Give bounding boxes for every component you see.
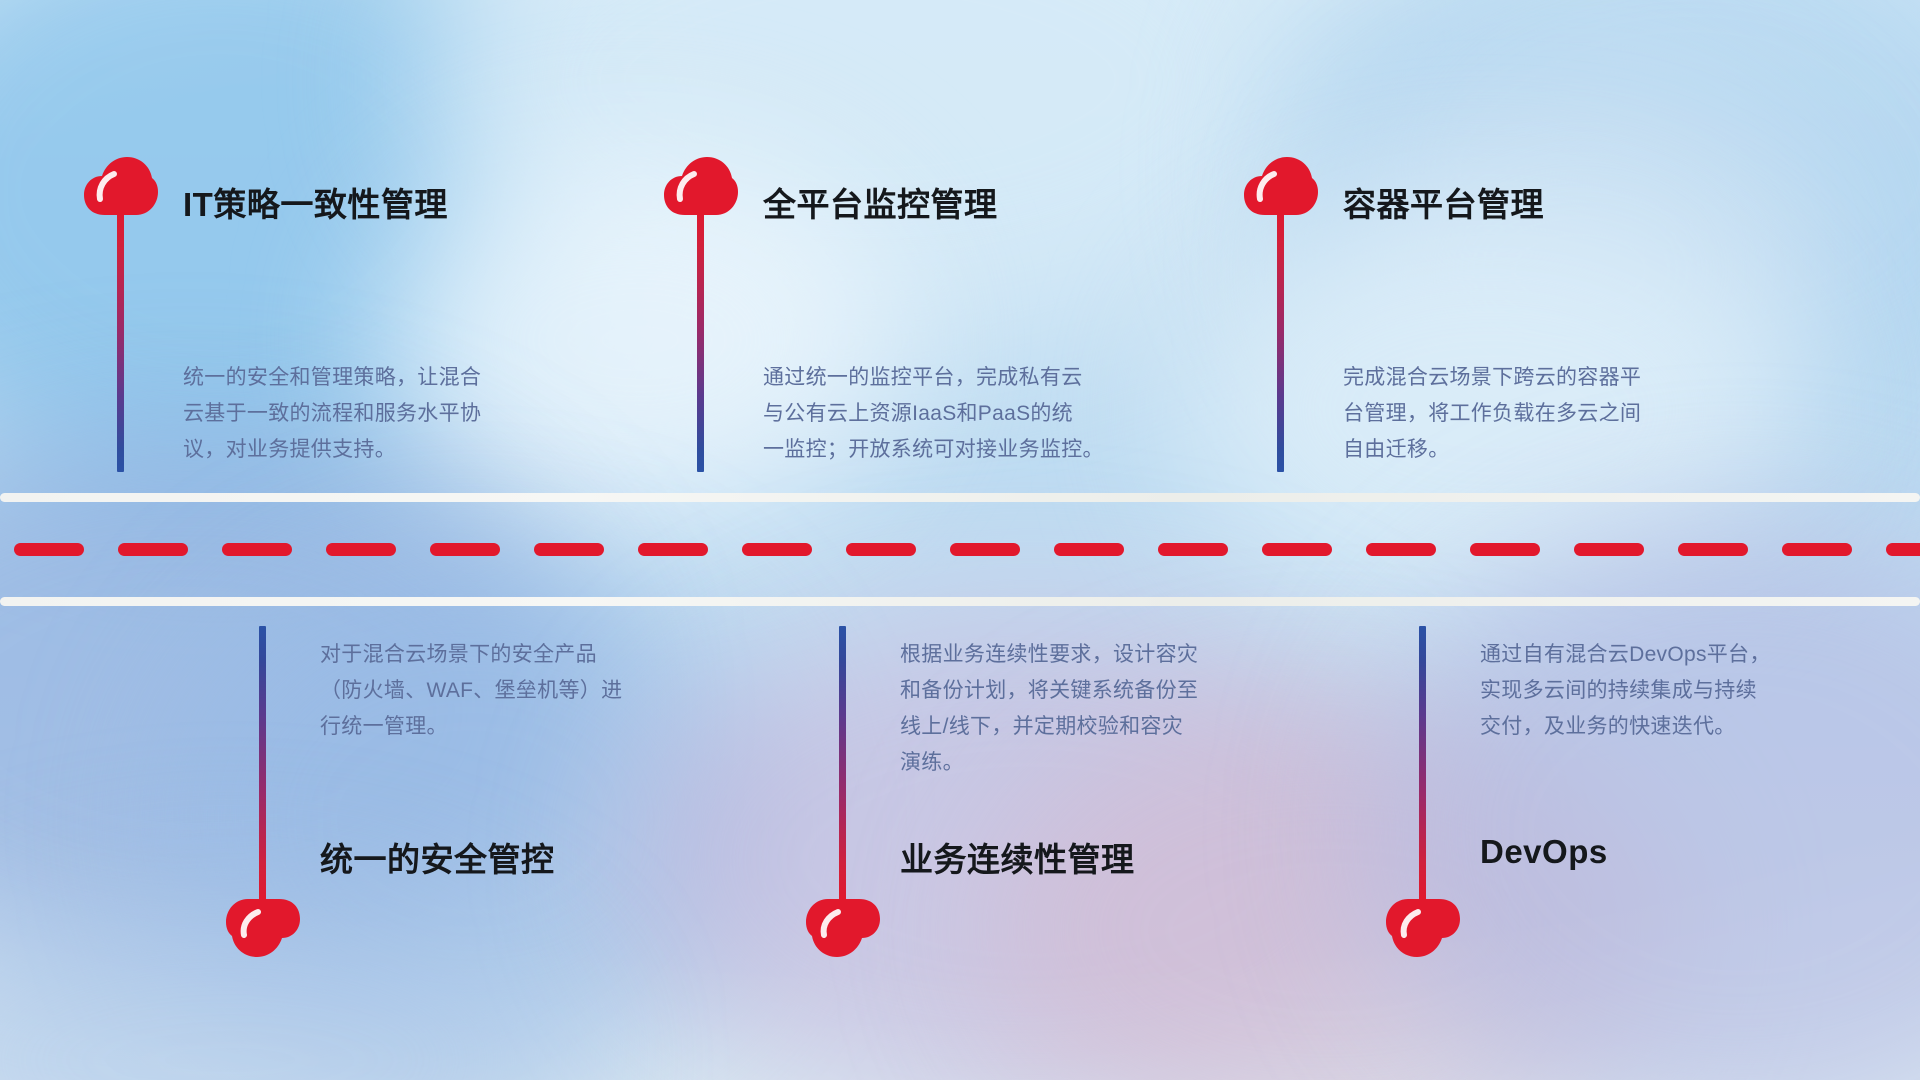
top-body-2: 通过统一的监控平台，完成私有云 与公有云上资源IaaS和PaaS的统 一监控；开…: [763, 360, 1213, 468]
dash-segment: [14, 543, 84, 556]
bottom-heading-2: 业务连续性管理: [900, 833, 1135, 881]
dash-segment: [1782, 543, 1852, 556]
connector-bar: [259, 626, 266, 906]
dash-segment: [118, 543, 188, 556]
bottom-body-3: 通过自有混合云DevOps平台， 实现多云间的持续集成与持续 交付，及业务的快速…: [1480, 637, 1910, 745]
top-heading-3: 容器平台管理: [1343, 178, 1544, 226]
dash-segment: [430, 543, 500, 556]
dash-segment: [1886, 543, 1920, 556]
dash-segment: [742, 543, 812, 556]
dash-segment: [326, 543, 396, 556]
infographic: IT策略一致性管理 统一的安全和管理策略，让混合 云基于一致的流程和服务水平协 …: [0, 0, 1920, 1080]
connector-bar: [697, 200, 704, 472]
dash-segment: [950, 543, 1020, 556]
cloud-pin-icon: [1244, 155, 1318, 217]
dash-segment: [1574, 543, 1644, 556]
bottom-body-2: 根据业务连续性要求，设计容灾 和备份计划，将关键系统备份至 线上/线下，并定期校…: [900, 637, 1330, 781]
dash-segment: [638, 543, 708, 556]
top-body-3: 完成混合云场景下跨云的容器平 台管理，将工作负载在多云之间 自由迁移。: [1343, 360, 1793, 468]
dash-segment: [1054, 543, 1124, 556]
connector-bar: [1419, 626, 1426, 906]
bottom-body-1: 对于混合云场景下的安全产品 （防火墙、WAF、堡垒机等）进 行统一管理。: [320, 637, 750, 745]
connector-bar: [839, 626, 846, 906]
divider-line-bottom: [0, 597, 1920, 606]
dash-segment: [1366, 543, 1436, 556]
cloud-pin-icon: [664, 155, 738, 217]
dash-segment: [1158, 543, 1228, 556]
bottom-heading-1: 统一的安全管控: [320, 833, 555, 881]
dash-segment: [1262, 543, 1332, 556]
cloud-pin-icon: [84, 155, 158, 217]
connector-bar: [1277, 200, 1284, 472]
top-heading-1: IT策略一致性管理: [183, 178, 448, 226]
connector-bar: [117, 200, 124, 472]
divider-line-top: [0, 493, 1920, 502]
cloud-pin-icon: [226, 897, 300, 959]
dash-segment: [534, 543, 604, 556]
cloud-pin-icon: [1386, 897, 1460, 959]
dash-segment: [1678, 543, 1748, 556]
top-body-1: 统一的安全和管理策略，让混合 云基于一致的流程和服务水平协 议，对业务提供支持。: [183, 360, 613, 468]
cloud-pin-icon: [806, 897, 880, 959]
dash-segment: [846, 543, 916, 556]
dashed-separator: [0, 542, 1920, 556]
top-heading-2: 全平台监控管理: [763, 178, 998, 226]
dash-segment: [222, 543, 292, 556]
dash-segment: [1470, 543, 1540, 556]
bottom-heading-3: DevOps: [1480, 833, 1608, 871]
